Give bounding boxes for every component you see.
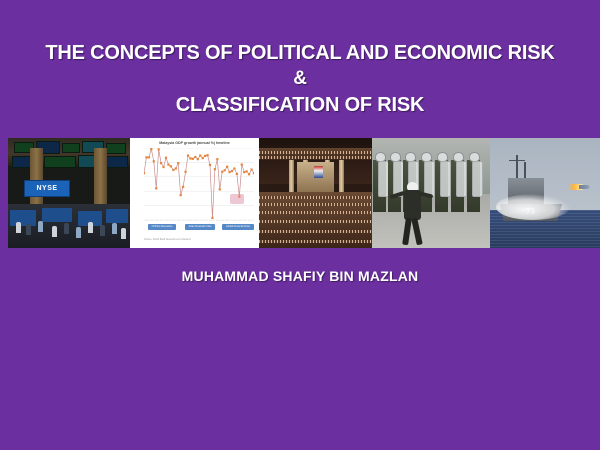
title-line-1: THE CONCEPTS OF POLITICAL AND ECONOMIC R… [0,40,600,66]
protester-right-leg [411,218,422,246]
riot-officer [435,152,448,212]
ship-launch-smoke [496,194,570,220]
page-title: THE CONCEPTS OF POLITICAL AND ECONOMIC R… [0,40,600,118]
nyse-person [52,226,57,237]
riot-officer [467,152,480,212]
protester-left-leg [402,218,412,246]
nyse-booth [10,210,36,226]
chart-plot-area [144,148,254,220]
riot-officer [451,152,464,212]
nyse-person [112,223,117,234]
missile-body [579,185,590,189]
nyse-person [26,224,31,235]
chart-annotation-0: Oil Price Recession [148,224,176,230]
image-strip: NYSE Malaysia GDP growth (annual %) time… [8,138,600,248]
image-gdp-growth-chart: Malaysia GDP growth (annual %) timeline … [130,138,259,248]
image-nyse-trading-floor: NYSE [8,138,130,248]
presenter-name: MUHAMMAD SHAFIY BIN MAZLAN [0,268,600,284]
nyse-board [44,156,76,168]
nyse-person [88,222,93,233]
ship-secondary-mast [524,162,526,179]
congress-column [339,158,344,192]
riot-protester [398,182,428,246]
riot-shield [440,161,451,197]
nyse-person [16,222,21,233]
title-line-2: CLASSIFICATION OF RISK [0,92,600,118]
congress-seat-row [259,156,372,159]
riot-officer [373,152,386,212]
nyse-person [38,221,43,232]
image-warship-missile-launch: 73 [490,138,600,248]
nyse-board [106,143,126,154]
nyse-booth [42,208,72,222]
congress-column [289,158,294,192]
congress-seat-row [259,240,372,243]
title-line-ampersand: & [0,66,600,92]
chart-source-note: Source: World Bank Development Indicator… [144,238,191,241]
nyse-sign: NYSE [24,180,70,197]
congress-seat-row [259,220,372,223]
congress-seat-row [259,230,372,233]
congress-seat-row [259,211,372,214]
image-riot-police [372,138,490,248]
riot-shield [472,161,483,197]
congress-seat-row [259,203,372,206]
ship-mast [516,155,518,179]
congress-flag [314,166,323,178]
image-congress-chamber [259,138,372,248]
nyse-board [62,143,80,153]
riot-shield [456,161,467,197]
ship-missile [568,184,590,190]
chart-highlight-region [230,194,244,204]
nyse-person [76,227,81,238]
nyse-person [100,225,105,236]
chart-title: Malaysia GDP growth (annual %) timeline [130,141,259,145]
chart-annotation-1: Asian Financial Crisis [185,224,215,230]
nyse-booth [106,209,128,223]
nyse-person [121,228,126,239]
nyse-person [64,223,69,234]
congress-seat-row [259,196,372,199]
presentation-slide: THE CONCEPTS OF POLITICAL AND ECONOMIC R… [0,0,600,450]
chart-svg [144,148,254,220]
nyse-board [106,156,128,168]
congress-seat-row [259,151,372,154]
chart-annotation-2: Global Financial Crisis [222,224,254,230]
